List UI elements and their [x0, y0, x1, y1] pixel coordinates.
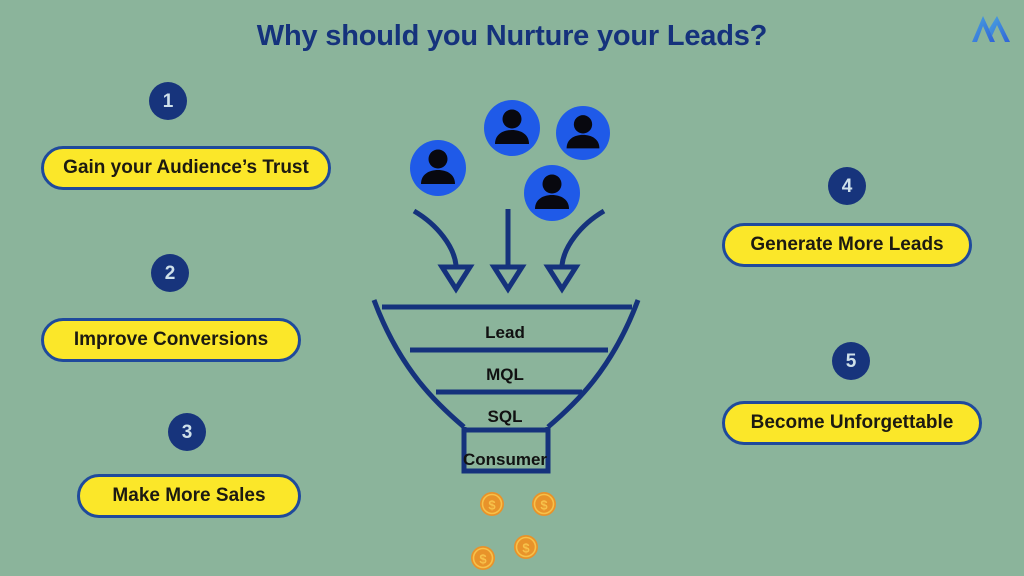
coin-icon-3: $ [513, 534, 539, 560]
step-badge-1: 1 [149, 82, 187, 120]
funnel-stage-consumer: Consumer [360, 450, 650, 470]
svg-text:$: $ [522, 541, 530, 556]
funnel-stage-lead: Lead [360, 323, 650, 343]
step-pill-5[interactable]: Become Unforgettable [722, 401, 982, 445]
step-pill-4[interactable]: Generate More Leads [722, 223, 972, 267]
step-pill-2-label: Improve Conversions [74, 329, 268, 351]
coin-icon-4: $ [470, 545, 496, 571]
step-badge-4-number: 4 [842, 177, 853, 196]
step-pill-1[interactable]: Gain your Audience’s Trust [41, 146, 331, 190]
mountain-logo [968, 9, 1014, 51]
inflow-arrow-middle [494, 209, 522, 289]
step-pill-3[interactable]: Make More Sales [77, 474, 301, 518]
funnel-stage-mql: MQL [360, 365, 650, 385]
step-badge-4: 4 [828, 167, 866, 205]
coin-icon-1: $ [479, 491, 505, 517]
step-pill-3-label: Make More Sales [112, 485, 265, 507]
person-icon-3 [556, 106, 610, 160]
step-pill-1-label: Gain your Audience’s Trust [63, 157, 309, 179]
step-badge-2-number: 2 [165, 264, 176, 283]
svg-text:$: $ [488, 498, 496, 513]
page-title: Why should you Nurture your Leads? [0, 20, 1024, 53]
infographic-canvas: Why should you Nurture your Leads? 1 Gai… [0, 0, 1024, 576]
step-badge-5: 5 [832, 342, 870, 380]
coin-icon-2: $ [531, 491, 557, 517]
person-icon-2 [484, 100, 540, 156]
svg-text:$: $ [479, 552, 487, 567]
step-pill-5-label: Become Unforgettable [751, 412, 954, 434]
step-badge-5-number: 5 [846, 352, 857, 371]
step-badge-3-number: 3 [182, 423, 193, 442]
step-pill-2[interactable]: Improve Conversions [41, 318, 301, 362]
step-badge-1-number: 1 [163, 92, 174, 111]
step-pill-4-label: Generate More Leads [750, 234, 943, 256]
inflow-arrow-right [548, 211, 604, 289]
funnel-stage-sql: SQL [360, 407, 650, 427]
inflow-arrow-left [414, 211, 470, 289]
step-badge-3: 3 [168, 413, 206, 451]
svg-text:$: $ [540, 498, 548, 513]
step-badge-2: 2 [151, 254, 189, 292]
person-icon-1 [410, 140, 466, 196]
